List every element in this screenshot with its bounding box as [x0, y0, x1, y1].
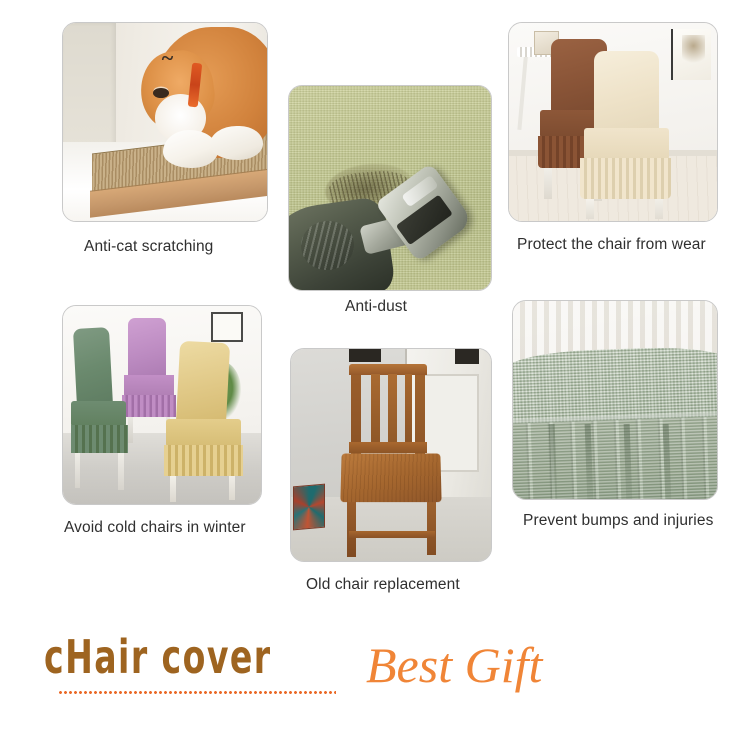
vacuum-carpet-illustration — [289, 86, 491, 290]
two-covered-chairs-illustration — [509, 23, 717, 221]
gold-chair-ruffle-skirt — [164, 445, 243, 477]
purple-chair-leg-left — [128, 415, 132, 443]
feature-image-anti-dust — [288, 85, 492, 291]
gold-chair-seat-cover — [166, 419, 241, 447]
cream-chair-back-cover — [594, 51, 658, 134]
dark-shadow-top-left — [349, 349, 381, 362]
wall-art-branch — [682, 35, 705, 71]
green-chair-leg-left — [75, 451, 80, 489]
caption-avoid-cold-chairs: Avoid cold chairs in winter — [64, 519, 246, 537]
green-chair-seat-cover — [71, 401, 126, 427]
chair-back-slat-1 — [371, 374, 380, 444]
cream-chair-leg-left — [586, 197, 594, 219]
purple-chair-seat-cover — [124, 375, 174, 397]
green-chair-back-cover — [73, 327, 113, 408]
chair-bottom-rail — [349, 442, 427, 453]
cream-chair-ruffle-skirt — [580, 158, 672, 200]
tilde-doodle: ~ — [162, 47, 173, 69]
purple-chair-back-cover — [128, 318, 166, 379]
cover-pleated-skirt — [513, 416, 717, 499]
cat-second-paw — [210, 126, 263, 160]
green-cover-closeup-illustration — [513, 301, 717, 499]
three-colored-chairs-illustration — [63, 306, 261, 504]
infographic-board: ~ Anti-cat scratching Anti-dust — [0, 0, 750, 750]
feature-image-old-chair-replacement — [290, 348, 492, 562]
chair-stretcher-rail — [349, 531, 435, 538]
chair-wooden-seat — [340, 453, 441, 501]
brand-title: cHair cover — [44, 634, 272, 680]
feature-image-anti-cat-scratching: ~ — [62, 22, 268, 222]
caption-anti-cat-scratching: Anti-cat scratching — [84, 238, 213, 256]
cat-front-paw — [163, 130, 218, 168]
gold-chair-back-cover — [176, 340, 230, 426]
caption-anti-dust: Anti-dust — [345, 298, 407, 316]
framed-picture — [211, 312, 243, 342]
old-wooden-chair-illustration — [291, 349, 491, 561]
patterned-floor-cushion — [293, 483, 325, 530]
green-chair-leg-right — [118, 451, 123, 491]
purple-chair-ruffle-skirt — [122, 395, 175, 417]
dark-shadow-top-right — [455, 349, 479, 364]
cat-scratcher-illustration: ~ — [63, 23, 267, 221]
caption-prevent-bumps-injuries: Prevent bumps and injuries — [523, 512, 713, 530]
brown-chair-leg-left — [544, 166, 551, 200]
gold-chair-leg-left — [170, 474, 176, 502]
caption-protect-chair-from-wear: Protect the chair from wear — [517, 236, 706, 254]
feature-image-avoid-cold-chairs — [62, 305, 262, 505]
chair-back-slat-2 — [388, 374, 397, 444]
brand-subtitle: Best Gift — [366, 640, 542, 690]
feature-image-protect-chair-from-wear — [508, 22, 718, 222]
green-chair-ruffle-skirt — [71, 425, 128, 453]
feature-image-prevent-bumps-injuries — [512, 300, 718, 500]
chair-front-leg-right — [427, 497, 436, 554]
brand-title-underline — [58, 690, 336, 695]
chair-back-slat-3 — [405, 374, 412, 444]
caption-old-chair-replacement: Old chair replacement — [306, 576, 460, 594]
chair-front-leg-left — [347, 497, 356, 556]
cream-chair-seat-cover — [584, 128, 669, 160]
